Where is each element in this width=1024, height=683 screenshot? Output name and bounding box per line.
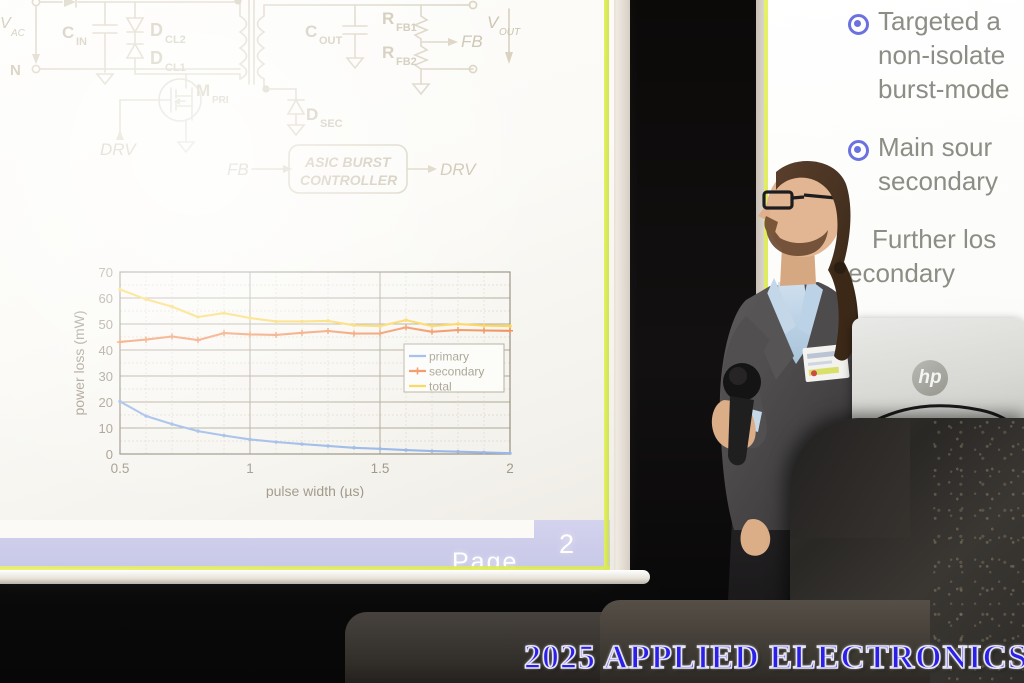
asic-block-line2: CONTROLLER: [300, 172, 398, 188]
svg-text:secondary: secondary: [429, 365, 484, 379]
svg-text:AC: AC: [10, 28, 26, 39]
svg-text:60: 60: [99, 291, 113, 306]
presentation-photo: L N V AC C IN D CL2 D CL1 M PRI DRV D SE…: [0, 0, 1024, 683]
bullet-line: Targeted a: [878, 4, 1010, 38]
power-loss-chart: 0102030405060700.511.52pulse width (µs)p…: [66, 258, 526, 498]
label-cout: C: [305, 22, 317, 41]
label-rfb1: R: [382, 9, 394, 28]
label-dcl1: D: [150, 48, 163, 68]
label-dcl2: D: [150, 20, 163, 40]
svg-text:FB2: FB2: [396, 56, 417, 68]
svg-text:1: 1: [246, 461, 254, 476]
svg-text:10: 10: [99, 421, 113, 436]
svg-text:2: 2: [506, 461, 514, 476]
hp-logo-icon: hp: [912, 360, 948, 396]
svg-text:CL1: CL1: [165, 62, 186, 74]
label-cin: C: [62, 23, 74, 42]
asic-block-line1: ASIC BURST: [304, 154, 392, 170]
label-fb-in: FB: [227, 160, 249, 179]
svg-text:0: 0: [106, 447, 113, 462]
svg-text:OUT: OUT: [499, 27, 521, 38]
label-mpri: M: [196, 81, 210, 100]
hair-tie: [834, 262, 846, 274]
label-neutral: N: [10, 62, 21, 79]
svg-text:IN: IN: [76, 36, 87, 48]
bullet-line: burst-mode: [878, 72, 1010, 106]
power-loss-chart-svg: 0102030405060700.511.52pulse width (µs)p…: [66, 258, 526, 498]
svg-text:pulse width (µs): pulse width (µs): [266, 483, 364, 498]
label-line: L: [12, 0, 21, 2]
bullet-spacer: [848, 108, 1024, 130]
bullet-line: non-isolate: [878, 38, 1010, 72]
svg-text:total: total: [429, 380, 452, 394]
label-dsec: D: [306, 105, 318, 124]
bullet-item: Targeted a non-isolate burst-mode: [848, 4, 1024, 106]
screen-roller-bar: [0, 570, 650, 584]
circuit-schematic: L N V AC C IN D CL2 D CL1 M PRI DRV D SE…: [0, 0, 560, 222]
svg-text:0.5: 0.5: [111, 461, 130, 476]
svg-text:30: 30: [99, 369, 113, 384]
svg-text:CL2: CL2: [165, 34, 186, 46]
svg-text:50: 50: [99, 317, 113, 332]
page-number: 2: [559, 529, 574, 560]
label-rfb2: R: [382, 43, 394, 62]
target-bullet-icon: [848, 14, 869, 35]
slide-footer-white-strip: [0, 520, 534, 538]
label-fb-node: FB: [461, 32, 483, 51]
svg-text:70: 70: [99, 265, 113, 280]
svg-text:40: 40: [99, 343, 113, 358]
svg-text:FB1: FB1: [396, 22, 417, 34]
svg-text:power loss (mW): power loss (mW): [71, 310, 87, 415]
svg-text:OUT: OUT: [319, 35, 343, 47]
screen-left-green-edge: [604, 0, 609, 572]
svg-text:SEC: SEC: [320, 118, 343, 130]
svg-text:PRI: PRI: [212, 95, 229, 106]
label-drv-in: DRV: [100, 140, 137, 159]
svg-text:1.5: 1.5: [371, 461, 390, 476]
event-watermark: 2025 APPLIED ELECTRONICS: [524, 639, 1024, 677]
svg-text:primary: primary: [429, 350, 469, 364]
svg-text:20: 20: [99, 395, 113, 410]
label-drv-out: DRV: [440, 160, 477, 179]
